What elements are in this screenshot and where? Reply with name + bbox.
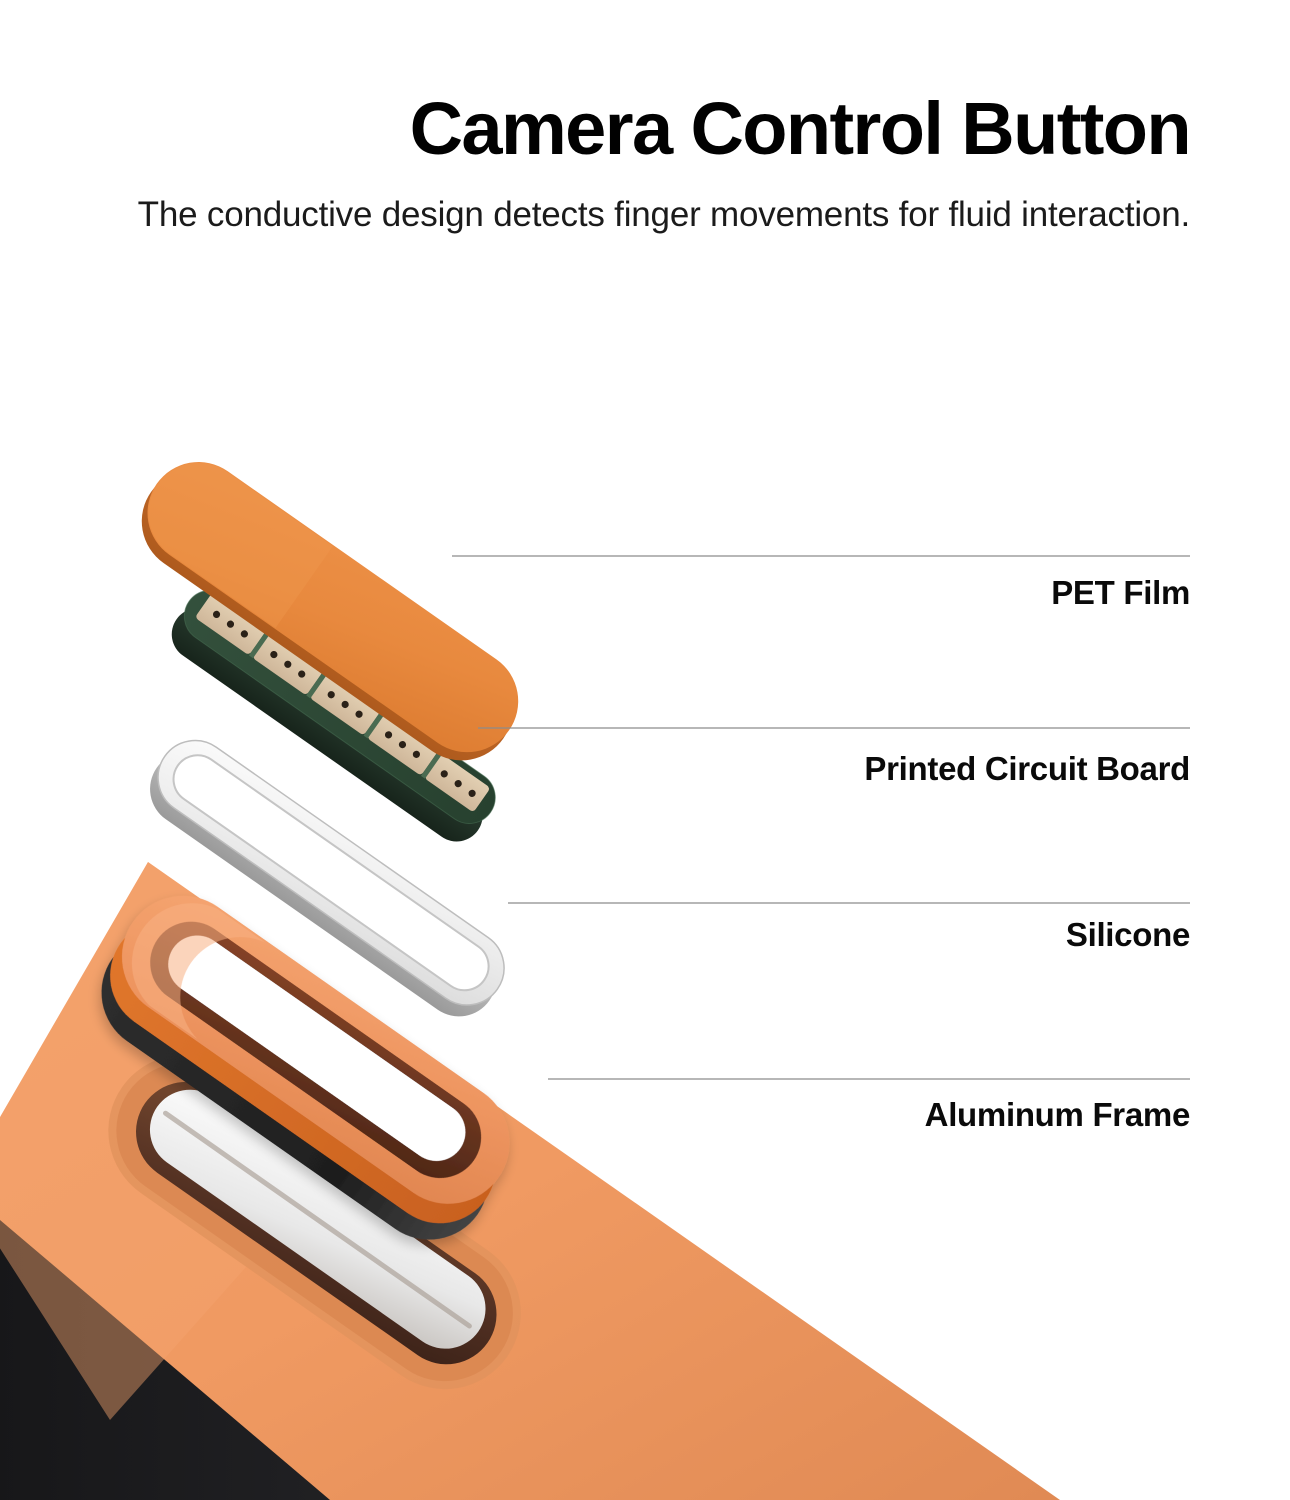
callout-labels: PET Film Printed Circuit Board Silicone …: [0, 0, 1290, 1500]
callout-label-aluminum-frame: Aluminum Frame: [925, 1096, 1190, 1134]
callout-label-silicone: Silicone: [1066, 916, 1190, 954]
infographic-page: Camera Control Button The conductive des…: [0, 0, 1290, 1500]
callout-label-pet-film: PET Film: [1051, 574, 1190, 612]
callout-label-printed-circuit-board: Printed Circuit Board: [864, 750, 1190, 788]
